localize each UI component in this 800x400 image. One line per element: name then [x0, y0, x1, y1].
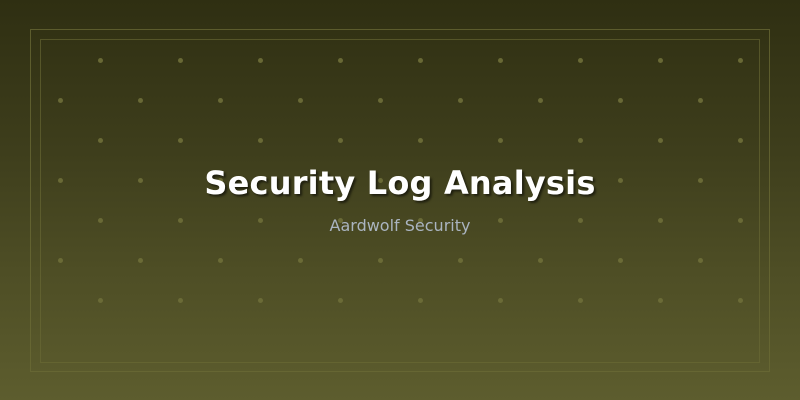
- title-block: Security Log Analysis Aardwolf Security: [0, 0, 800, 400]
- title-slide: Security Log Analysis Aardwolf Security: [0, 0, 800, 400]
- page-subtitle: Aardwolf Security: [330, 216, 471, 235]
- page-title: Security Log Analysis: [204, 165, 595, 202]
